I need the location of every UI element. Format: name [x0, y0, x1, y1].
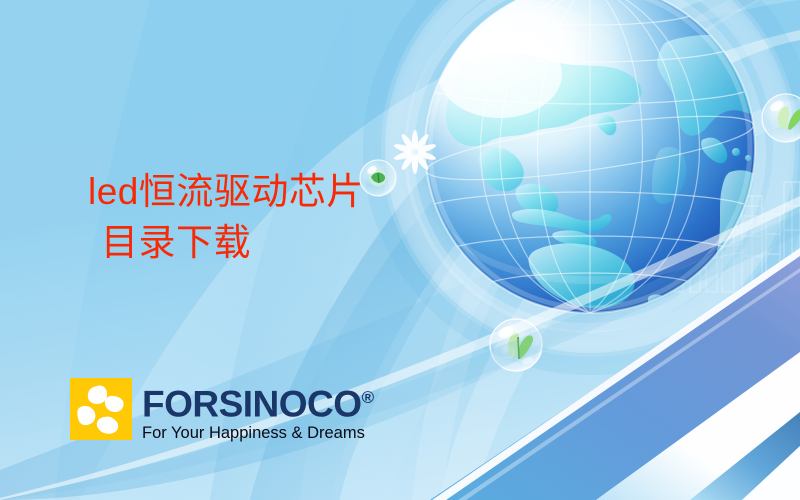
logo-wordmark: FORSINOCO®	[142, 380, 374, 422]
four-petal-pinwheel-icon	[70, 378, 132, 440]
logo-tagline: For Your Happiness & Dreams	[142, 424, 374, 443]
headline-line-1: led恒流驱动芯片	[88, 166, 508, 217]
logo-mark	[70, 378, 132, 440]
logo-wordmark-text: FORSINOCO	[142, 383, 362, 424]
headline-block: led恒流驱动芯片 目录下载	[88, 166, 508, 268]
registered-trademark-icon: ®	[362, 388, 375, 407]
brand-logo[interactable]: FORSINOCO® For Your Happiness & Dreams	[70, 378, 374, 443]
logo-text-block: FORSINOCO® For Your Happiness & Dreams	[142, 380, 374, 443]
banner-canvas: led恒流驱动芯片 目录下载 FORSINOCO®	[0, 0, 800, 500]
headline-line-2: 目录下载	[88, 217, 508, 268]
